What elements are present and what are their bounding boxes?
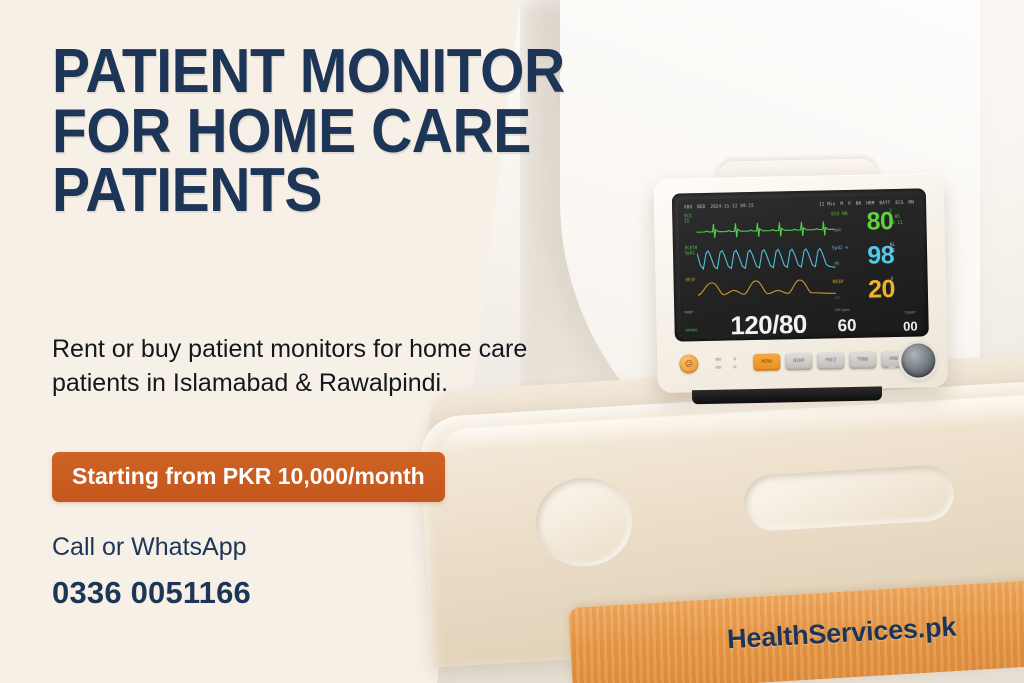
status-adu: ADU: [684, 204, 692, 209]
monitor-control-panel: ☹ MENU NIBP FREZ TRND PRNT: [657, 341, 948, 387]
resp-value: 20: [848, 272, 895, 307]
headline-line-2: FOR HOME CARE: [52, 102, 567, 162]
screen-footer-tag: DEMO: [686, 327, 698, 332]
numeric-hr: ECG HR bpm 80 2 1 95 18 11: [831, 207, 916, 243]
resp-tag: RESP: [833, 279, 844, 284]
headline-line-3: PATIENTS: [52, 161, 567, 221]
hr-tag: ECG HR: [831, 211, 847, 216]
status-r7: MN: [909, 200, 915, 205]
spo2-limits: RL WE: [890, 243, 916, 256]
status-r0: 12 Min: [819, 201, 835, 206]
resp-waveform-row: RESP: [684, 272, 837, 307]
numeric-spo2: SpO2 % PR 98 RL WE: [832, 241, 917, 277]
indicator-dot-bottom: [733, 365, 736, 368]
numerics-panel: ECG HR bpm 80 2 1 95 18 11 SpO2 % PR 98 …: [831, 207, 918, 336]
alarm-led: [715, 366, 721, 369]
nibp-value: 120/80: [698, 308, 839, 335]
waveform-area: ECG II PLETH SpO2: [682, 208, 836, 311]
power-led: [715, 358, 721, 361]
spo2-unit: PR: [834, 261, 839, 266]
pleth-waveform-label: PLETH SpO2: [685, 245, 697, 255]
rotary-knob[interactable]: [901, 343, 936, 378]
numeric-footer-row: PR bpm 60 TEMP 00: [833, 315, 918, 336]
indicator-dot-top: [733, 357, 736, 360]
nibp-label: NIBP: [684, 309, 693, 314]
knob-marker: [888, 366, 895, 368]
resp-waveform-trace: [698, 272, 837, 307]
resp-waveform-label: RESP: [686, 277, 696, 282]
patient-monitor-device: ADU BED 2024-11-12 09:15 12 Min M P NR H…: [653, 173, 948, 422]
ecg-waveform-trace: [696, 208, 835, 243]
hr-value: 80: [847, 204, 894, 239]
pleth-waveform-row: PLETH SpO2: [683, 240, 836, 275]
spo2-tag: SpO2 %: [832, 245, 848, 250]
status-bed: BED: [697, 204, 705, 209]
status-bar-left: ADU BED 2024-11-12 09:15: [684, 203, 754, 209]
temperature-label: TEMP: [904, 310, 915, 315]
temperature-value: 00: [903, 319, 918, 334]
ecg-waveform-label: ECG II: [684, 213, 691, 223]
promotional-banner: HealthServices.pk ADU BED 2024-11-12 09:…: [0, 0, 1024, 683]
ecg-waveform-row: ECG II: [682, 208, 835, 243]
monitor-screen: ADU BED 2024-11-12 09:15 12 Min M P NR H…: [678, 194, 923, 335]
menu-button[interactable]: MENU: [753, 353, 780, 371]
hr-limits: 2 1 95 18 11: [889, 209, 915, 228]
resp-unit: rr: [835, 295, 840, 300]
freeze-button[interactable]: FREZ: [817, 352, 844, 370]
monitor-base: [692, 386, 882, 404]
subcopy-text: Rent or buy patient monitors for home ca…: [52, 333, 532, 400]
status-r1: M: [840, 201, 843, 206]
page-title: PATIENT MONITOR FOR HOME CARE PATIENTS: [52, 42, 567, 221]
trend-button[interactable]: TRND: [849, 351, 876, 369]
phone-number[interactable]: 0336 0051166: [52, 575, 251, 611]
hr-unit: bpm: [834, 227, 841, 232]
pulse-rate-label: PR bpm: [835, 307, 850, 312]
numeric-resp: RESP rr 20 0 r: [833, 275, 918, 311]
spo2-value: 98: [848, 238, 895, 273]
status-r6: ECG: [895, 200, 903, 205]
call-label: Call or WhatsApp: [52, 533, 247, 562]
headline-line-1: PATIENT MONITOR: [52, 42, 567, 102]
price-badge: Starting from PKR 10,000/month: [52, 452, 445, 502]
monitor-bezel: ADU BED 2024-11-12 09:15 12 Min M P NR H…: [672, 188, 929, 341]
resp-limits: 0 r: [891, 277, 917, 290]
nibp-button[interactable]: NIBP: [785, 353, 812, 371]
pleth-waveform-trace: [697, 240, 836, 275]
alarm-silence-icon[interactable]: ☹: [679, 354, 698, 373]
status-time: 2024-11-12 09:15: [710, 203, 754, 209]
pulse-rate-value: 60: [837, 316, 856, 336]
monitor-body: ADU BED 2024-11-12 09:15 12 Min M P NR H…: [653, 173, 947, 393]
